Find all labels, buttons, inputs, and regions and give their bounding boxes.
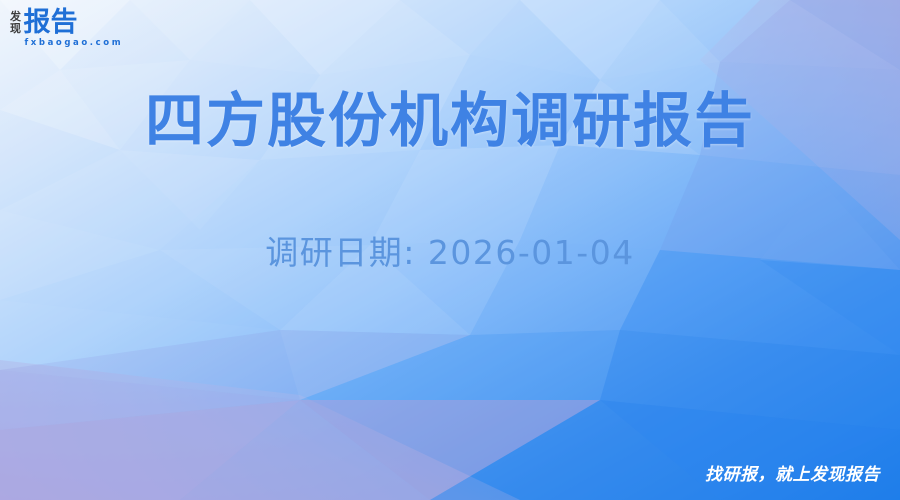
survey-date: 调研日期: 2026-01-04 (0, 232, 900, 274)
logo-stacked-chars: 发 现 (10, 9, 21, 35)
report-cover: 发 现 报告 fxbaogao.com 四方股份机构调研报告 调研日期: 202… (0, 0, 900, 500)
logo-wordmark: 报告 (24, 9, 124, 36)
page-title: 四方股份机构调研报告 (0, 86, 900, 156)
brand-logo[interactable]: 发 现 报告 fxbaogao.com (10, 9, 123, 49)
title-block: 四方股份机构调研报告 (0, 86, 900, 156)
logo-domain: fxbaogao.com (25, 38, 124, 49)
footer-tagline: 找研报，就上发现报告 (705, 464, 880, 486)
logo-wordmark-wrap: 报告 fxbaogao.com (24, 9, 124, 49)
logo-char-xian: 现 (10, 23, 21, 35)
